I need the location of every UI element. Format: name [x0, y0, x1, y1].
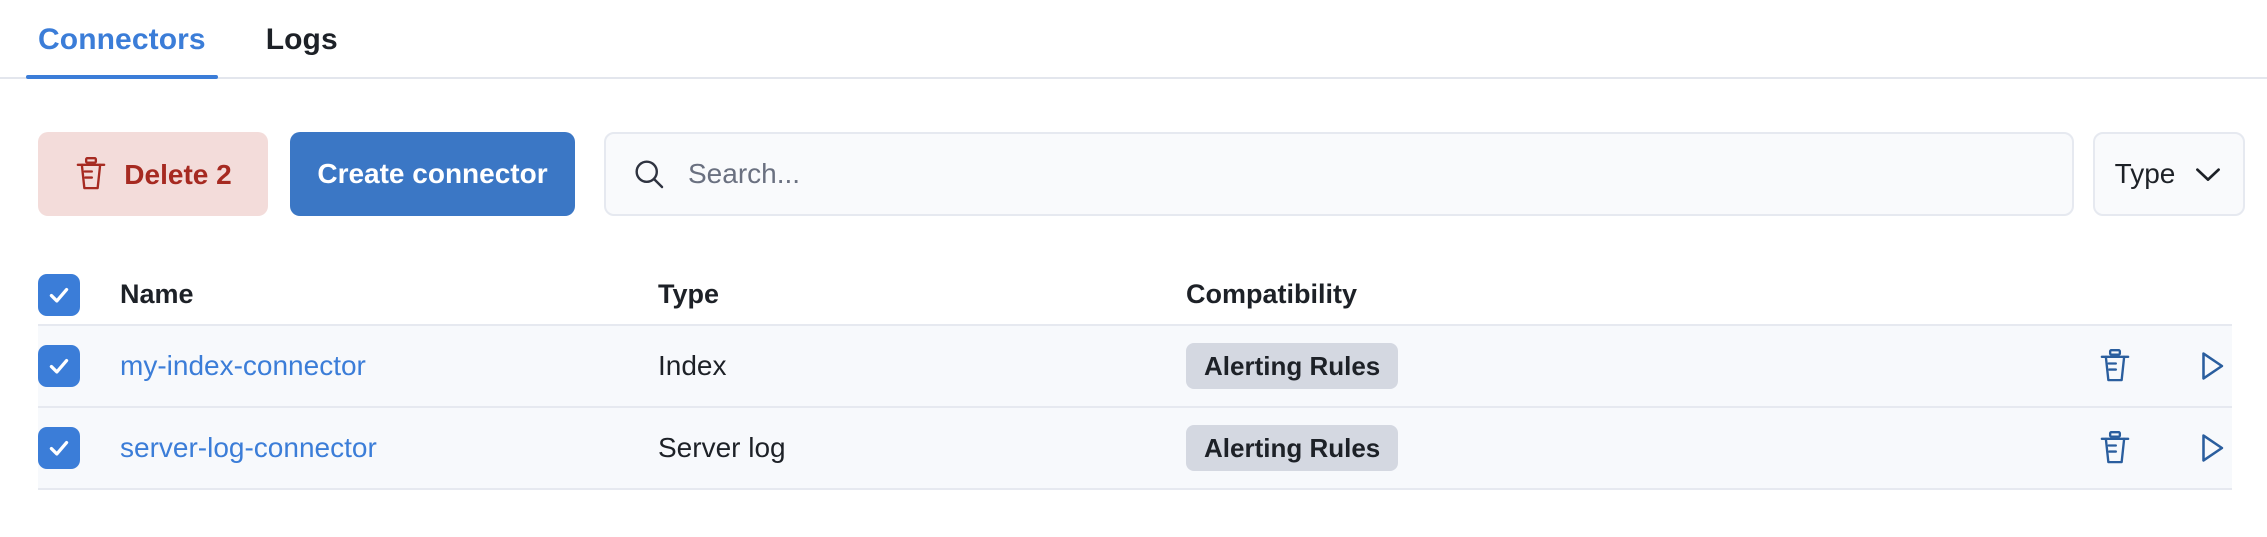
status-badge: Alerting Rules: [1186, 343, 1398, 389]
tab-connectors[interactable]: Connectors: [38, 0, 206, 79]
connector-type: Server log: [658, 432, 786, 464]
tab-bar: Connectors Logs: [0, 0, 2267, 79]
tab-list: Connectors Logs: [38, 0, 338, 79]
play-icon[interactable]: [2196, 349, 2228, 383]
trash-icon[interactable]: [2098, 348, 2132, 384]
create-connector-button[interactable]: Create connector: [290, 132, 575, 216]
delete-button[interactable]: Delete 2: [38, 132, 268, 216]
row-actions: [2098, 348, 2228, 384]
search-field[interactable]: Search...: [604, 132, 2074, 216]
type-filter-label: Type: [2115, 158, 2176, 190]
select-all-cell: [38, 274, 98, 316]
create-connector-label: Create connector: [317, 158, 547, 190]
connector-name-link[interactable]: my-index-connector: [120, 350, 366, 382]
tab-connectors-label: Connectors: [38, 23, 206, 57]
compatibility-cell: Alerting Rules: [1186, 343, 1398, 389]
tab-logs[interactable]: Logs: [266, 0, 338, 79]
connector-type: Index: [658, 350, 727, 382]
status-badge: Alerting Rules: [1186, 425, 1398, 471]
select-all-checkbox[interactable]: [38, 274, 80, 316]
tab-logs-label: Logs: [266, 23, 338, 57]
play-icon[interactable]: [2196, 431, 2228, 465]
column-header-compatibility[interactable]: Compatibility: [1186, 279, 1357, 310]
connector-name-link[interactable]: server-log-connector: [120, 432, 377, 464]
row-checkbox[interactable]: [38, 345, 80, 387]
row-select-cell: [38, 427, 98, 469]
chevron-down-icon: [2193, 164, 2223, 184]
table-row[interactable]: my-index-connector Index Alerting Rules: [38, 326, 2232, 408]
table-header-row: Name Type Compatibility: [38, 265, 2232, 326]
type-filter-dropdown[interactable]: Type: [2093, 132, 2245, 216]
row-select-cell: [38, 345, 98, 387]
table-row[interactable]: server-log-connector Server log Alerting…: [38, 408, 2232, 490]
search-icon: [632, 157, 666, 191]
column-header-name[interactable]: Name: [120, 279, 194, 310]
connectors-table: Name Type Compatibility my-index-connect…: [38, 265, 2232, 490]
search-input[interactable]: Search...: [688, 158, 800, 190]
row-checkbox[interactable]: [38, 427, 80, 469]
delete-button-label: Delete 2: [124, 158, 231, 191]
toolbar: Delete 2 Create connector Search... Type: [0, 132, 2267, 216]
trash-icon[interactable]: [2098, 430, 2132, 466]
compatibility-cell: Alerting Rules: [1186, 425, 1398, 471]
row-actions: [2098, 430, 2228, 466]
column-header-type[interactable]: Type: [658, 279, 719, 310]
trash-icon: [74, 156, 108, 192]
